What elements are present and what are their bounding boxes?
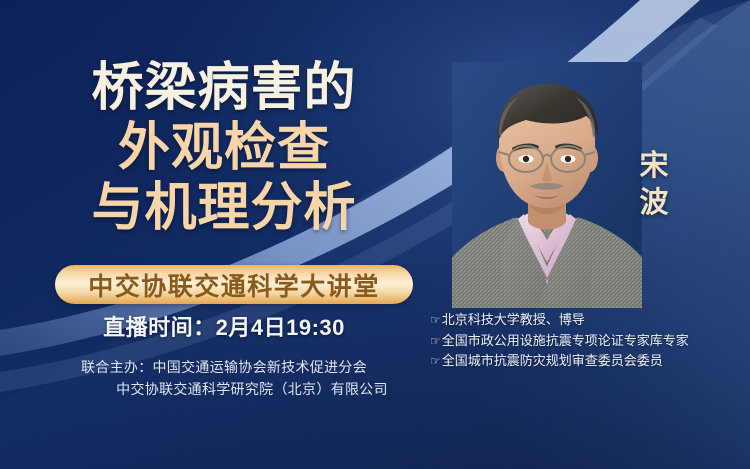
poster-title: 桥梁病害的 外观检查 与机理分析: [0, 58, 448, 238]
right-content-column: 宋 波 ☞ 北京科技大学教授、博导 ☞ 全国市政公用设施抗震专项论证专家库专家 …: [430, 0, 750, 469]
credential-row: ☞ 全国城市抗震防灾规划审查委员会委员: [430, 351, 750, 372]
speaker-credentials: ☞ 北京科技大学教授、博导 ☞ 全国市政公用设施抗震专项论证专家库专家 ☞ 全国…: [430, 310, 750, 372]
speaker-name-char-2: 波: [630, 185, 678, 222]
organizer-line-1: 联合主办：中国交通运输协会新技术促进分会: [0, 356, 448, 378]
speaker-name: 宋 波: [630, 148, 678, 222]
organizer-line-2: 中交协联交通科学研究院（北京）有限公司: [0, 378, 448, 400]
credential-text: 全国城市抗震防灾规划审查委员会委员: [442, 351, 663, 371]
organizer-block: 联合主办：中国交通运输协会新技术促进分会 中交协联交通科学研究院（北京）有限公司: [0, 356, 448, 400]
credential-text: 全国市政公用设施抗震专项论证专家库专家: [442, 331, 689, 351]
series-badge: 中交协联交通科学大讲堂: [55, 265, 413, 304]
series-badge-label: 中交协联交通科学大讲堂: [88, 267, 380, 303]
series-badge-pill: 中交协联交通科学大讲堂: [55, 265, 413, 304]
credential-text: 北京科技大学教授、博导: [442, 310, 585, 330]
title-line-2: 外观检查: [0, 118, 448, 178]
left-content-column: 桥梁病害的 外观检查 与机理分析 中交协联交通科学大讲堂 直播时间：2月4日19…: [0, 0, 448, 469]
credential-row: ☞ 全国市政公用设施抗震专项论证专家库专家: [430, 331, 750, 352]
title-line-3: 与机理分析: [0, 178, 448, 238]
speaker-name-char-1: 宋: [630, 148, 678, 185]
speaker-portrait: [452, 62, 642, 308]
credential-row: ☞ 北京科技大学教授、博导: [430, 310, 750, 331]
poster-canvas: 桥梁病害的 外观检查 与机理分析 中交协联交通科学大讲堂 直播时间：2月4日19…: [0, 0, 750, 469]
title-line-1: 桥梁病害的: [0, 58, 448, 118]
live-time-text: 直播时间：2月4日19:30: [0, 310, 448, 342]
